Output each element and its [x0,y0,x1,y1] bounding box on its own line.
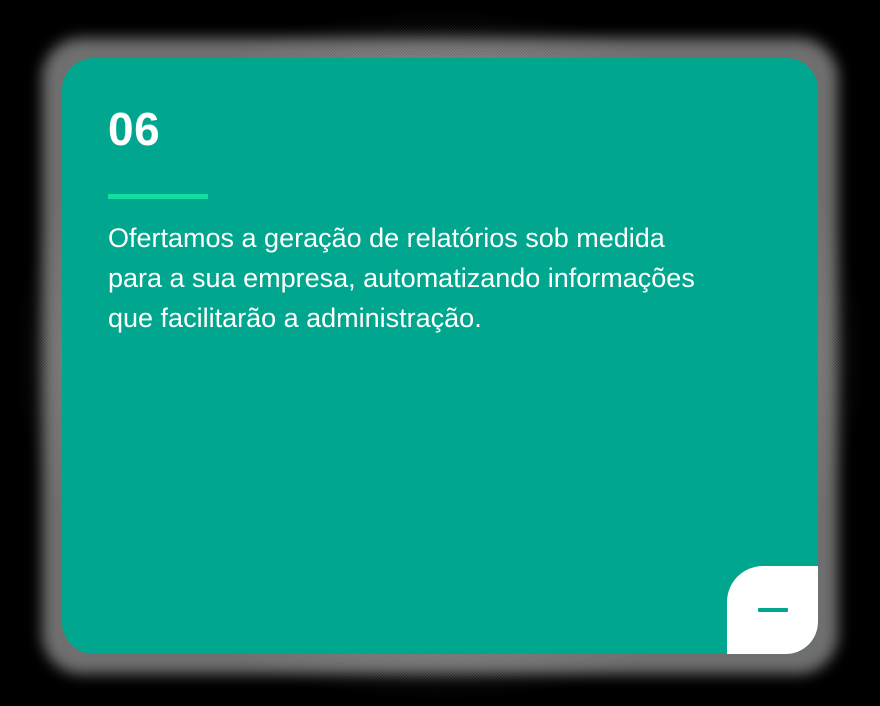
minus-icon [758,608,788,612]
slide-canvas: 06 Ofertamos a geração de relatórios sob… [0,0,880,706]
step-card: 06 Ofertamos a geração de relatórios sob… [62,58,818,654]
body-line-1: Ofertamos a geração de relatórios sob me… [108,218,768,258]
body-line-2: para a sua empresa, automatizando inform… [108,258,768,298]
card-body-text: Ofertamos a geração de relatórios sob me… [108,218,768,338]
corner-action-button[interactable] [727,566,818,654]
step-number: 06 [108,106,160,152]
accent-rule-divider [108,194,208,199]
body-line-3: que facilitarão a administração. [108,298,768,338]
